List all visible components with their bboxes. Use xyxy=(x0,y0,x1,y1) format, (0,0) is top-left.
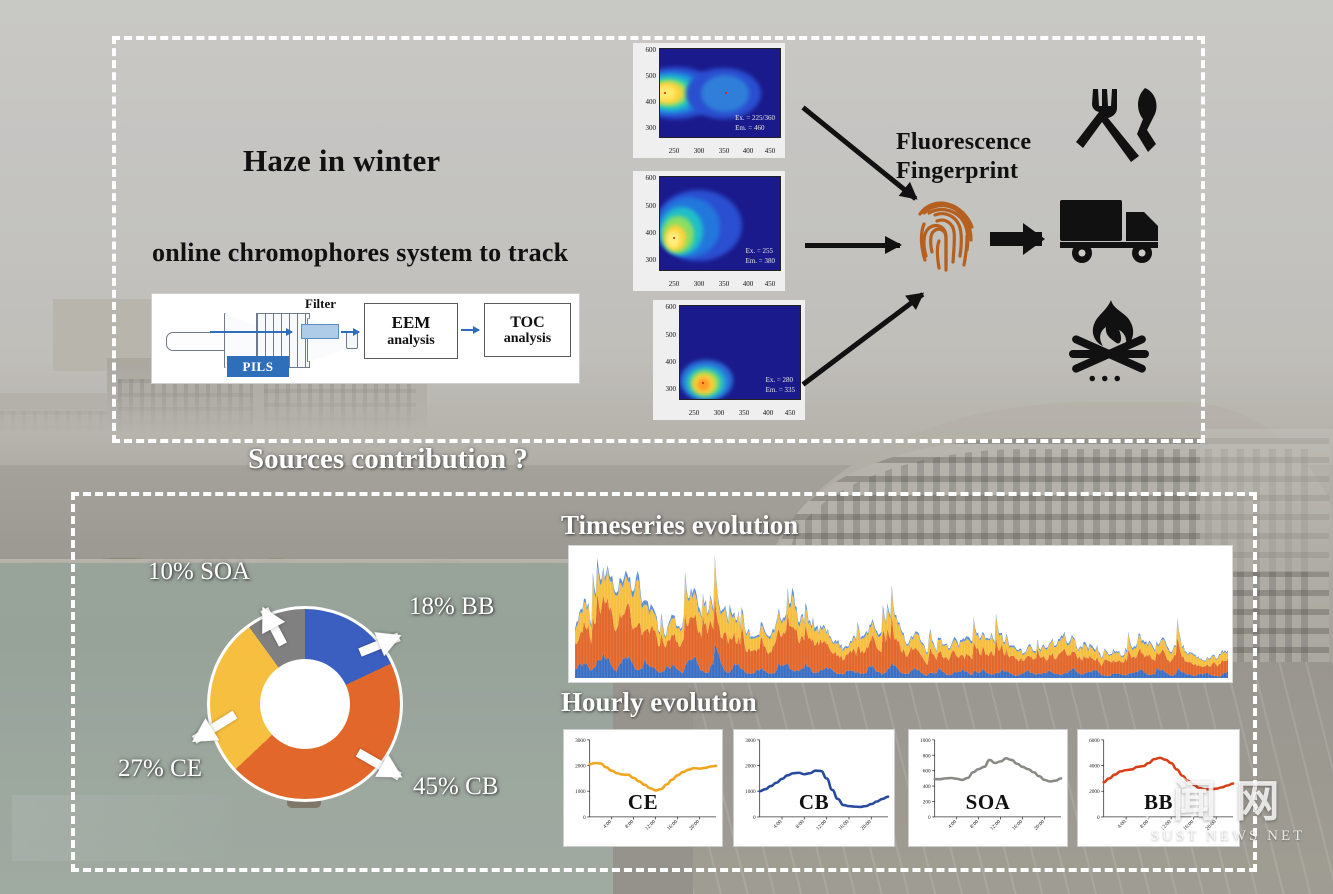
eem-plot-2-canvas: Ex. = 255 Em. = 380 xyxy=(659,176,781,271)
svg-text:4:00: 4:00 xyxy=(602,819,613,830)
eem1-xtick-400: 400 xyxy=(737,147,759,155)
eem3-ytick-400: 400 xyxy=(655,358,676,366)
fluorescence-line-2: Fingerprint xyxy=(896,157,1031,186)
online-system-title: online chromophores system to track xyxy=(152,238,568,268)
converging-arrow-middle xyxy=(805,243,900,248)
donut-label-soa: 10% SOA xyxy=(148,558,250,586)
svg-text:12:00: 12:00 xyxy=(644,819,657,832)
fingerprint-to-sources-arrow xyxy=(990,232,1042,246)
eem2-xtick-250: 250 xyxy=(663,280,685,288)
eem3-ytick-600: 600 xyxy=(655,303,676,311)
eem3-xtick-400: 400 xyxy=(757,409,779,417)
eem2-ytick-400: 400 xyxy=(635,229,656,237)
toc-box-line1: TOC xyxy=(510,314,544,332)
donut-label-bb: 18% BB xyxy=(409,593,494,621)
svg-text:20:00: 20:00 xyxy=(1205,819,1218,832)
donut-hole xyxy=(260,659,350,749)
eem2-ytick-600: 600 xyxy=(635,174,656,182)
hourly-panel-soa: 020040060080010004:008:0012:0016:0020:00… xyxy=(908,729,1068,847)
hourly-chart-ce: 01000200030004:008:0012:0016:0020:00 xyxy=(564,730,722,847)
eem3-xtick-450: 450 xyxy=(779,409,801,417)
svg-text:3000: 3000 xyxy=(745,738,756,744)
svg-text:20:00: 20:00 xyxy=(860,819,873,832)
svg-text:1000: 1000 xyxy=(920,738,931,744)
filter-icon xyxy=(301,324,339,339)
svg-text:0: 0 xyxy=(928,815,931,821)
eem1-xtick-300: 300 xyxy=(688,147,710,155)
eem1-xtick-250: 250 xyxy=(663,147,685,155)
eem2-xtick-400: 400 xyxy=(737,280,759,288)
eem-plot-2-note: Ex. = 255 Em. = 380 xyxy=(746,247,775,266)
hourly-evolution-title: Hourly evolution xyxy=(561,687,757,718)
hourly-panel-ce-title: CE xyxy=(564,790,722,815)
sources-contribution-donut xyxy=(207,606,403,802)
svg-text:3000: 3000 xyxy=(575,738,586,744)
svg-text:600: 600 xyxy=(923,769,931,775)
eem-plot-2-em: Em. = 380 xyxy=(746,257,775,266)
svg-text:4:00: 4:00 xyxy=(1117,819,1128,830)
hourly-panel-soa-title: SOA xyxy=(909,790,1067,815)
ellipsis: ... xyxy=(1088,352,1126,390)
eem2-xtick-300: 300 xyxy=(688,280,710,288)
svg-text:16:00: 16:00 xyxy=(666,819,679,832)
eem-plot-3-canvas: Ex. = 280 Em. = 335 xyxy=(679,305,801,400)
eem2-xtick-350: 350 xyxy=(713,280,735,288)
hourly-chart-cb: 01000200030004:008:0012:0016:0020:00 xyxy=(734,730,894,847)
hourly-chart-bb: 02000400060004:008:0012:0016:0020:00 xyxy=(1078,730,1239,847)
hourly-panel-cb-title: CB xyxy=(734,790,894,815)
eem-plot-1-canvas: Ex. = 225/360 Em. = 460 xyxy=(659,48,781,138)
eem-analysis-box: EEM analysis xyxy=(364,303,458,359)
svg-text:16:00: 16:00 xyxy=(838,819,851,832)
eem-plot-1-em: Em. = 460 xyxy=(735,124,775,133)
svg-text:8:00: 8:00 xyxy=(969,819,980,830)
eem-plot-3: Ex. = 280 Em. = 335 600 500 400 300 250 … xyxy=(653,300,805,420)
eem-plot-3-note: Ex. = 280 Em. = 335 xyxy=(766,376,795,395)
eem3-ytick-300: 300 xyxy=(655,385,676,393)
timeseries-evolution-title: Timeseries evolution xyxy=(561,510,798,541)
svg-text:0: 0 xyxy=(1097,815,1100,821)
hourly-panel-cb: 01000200030004:008:0012:0016:0020:00 CB xyxy=(733,729,895,847)
flow-arrow-3 xyxy=(461,329,479,331)
eem1-ytick-400: 400 xyxy=(635,98,656,106)
pils-inlet xyxy=(166,332,230,351)
svg-text:16:00: 16:00 xyxy=(1182,819,1195,832)
svg-text:800: 800 xyxy=(923,753,931,759)
toc-box-line2: analysis xyxy=(504,331,551,346)
eem1-ytick-500: 500 xyxy=(635,72,656,80)
sources-contribution-title: Sources contribution ? xyxy=(248,443,528,476)
eem1-xtick-350: 350 xyxy=(713,147,735,155)
fluorescence-line-1: Fluorescence xyxy=(896,128,1031,157)
eem-plot-1-note: Ex. = 225/360 Em. = 460 xyxy=(735,114,775,133)
graphical-abstract: Haze in winter online chromophores syste… xyxy=(0,0,1333,894)
donut-label-cb: 45% CB xyxy=(413,773,498,801)
svg-text:12:00: 12:00 xyxy=(989,819,1002,832)
eem3-xtick-300: 300 xyxy=(708,409,730,417)
svg-text:2000: 2000 xyxy=(575,764,586,770)
hourly-panel-bb-title: BB xyxy=(1078,790,1239,815)
hourly-chart-soa: 020040060080010004:008:0012:0016:0020:00 xyxy=(909,730,1067,847)
svg-text:0: 0 xyxy=(753,815,756,821)
svg-text:8:00: 8:00 xyxy=(624,819,635,830)
eem-box-line2: analysis xyxy=(387,333,434,348)
eem2-ytick-300: 300 xyxy=(635,256,656,264)
svg-text:6000: 6000 xyxy=(1089,738,1100,744)
eem1-xtick-450: 450 xyxy=(759,147,781,155)
haze-title: Haze in winter xyxy=(243,143,440,179)
eem3-xtick-250: 250 xyxy=(683,409,705,417)
eem-plot-3-em: Em. = 335 xyxy=(766,386,795,395)
filter-label: Filter xyxy=(305,296,336,312)
flow-arrow-1 xyxy=(210,331,292,333)
flow-arrow-2 xyxy=(341,331,359,333)
svg-text:4:00: 4:00 xyxy=(772,819,783,830)
cutlery-icon xyxy=(1073,86,1163,164)
fluorescence-fingerprint-title: Fluorescence Fingerprint xyxy=(896,128,1031,187)
svg-text:0: 0 xyxy=(583,815,586,821)
eem-box-line1: EEM xyxy=(392,314,431,333)
eem2-xtick-450: 450 xyxy=(759,280,781,288)
hourly-panel-ce: 01000200030004:008:0012:0016:0020:00 CE xyxy=(563,729,723,847)
truck-icon xyxy=(1058,192,1166,264)
eem-plot-1: Ex. = 225/360 Em. = 460 600 500 400 300 … xyxy=(633,43,785,158)
eem1-ytick-600: 600 xyxy=(635,46,656,54)
svg-text:8:00: 8:00 xyxy=(795,819,806,830)
eem3-ytick-500: 500 xyxy=(655,331,676,339)
svg-text:20:00: 20:00 xyxy=(1033,819,1046,832)
eem-plot-2: Ex. = 255 Em. = 380 600 500 400 300 250 … xyxy=(633,171,785,291)
eem3-xtick-350: 350 xyxy=(733,409,755,417)
pils-label: PILS xyxy=(227,356,289,377)
eem2-ytick-500: 500 xyxy=(635,202,656,210)
svg-text:12:00: 12:00 xyxy=(815,819,828,832)
svg-text:20:00: 20:00 xyxy=(688,819,701,832)
svg-text:16:00: 16:00 xyxy=(1011,819,1024,832)
svg-text:4:00: 4:00 xyxy=(947,819,958,830)
timeseries-chart-panel xyxy=(568,545,1233,683)
hourly-panel-bb: 02000400060004:008:0012:0016:0020:00 BB xyxy=(1077,729,1240,847)
timeseries-chart xyxy=(575,549,1228,678)
svg-text:8:00: 8:00 xyxy=(1139,819,1150,830)
fingerprint-icon xyxy=(915,196,977,274)
eem-plot-1-ex: Ex. = 225/360 xyxy=(735,114,775,123)
svg-text:2000: 2000 xyxy=(745,764,756,770)
svg-text:4000: 4000 xyxy=(1089,764,1100,770)
eem1-ytick-300: 300 xyxy=(635,124,656,132)
eem-plot-2-ex: Ex. = 255 xyxy=(746,247,775,256)
svg-text:12:00: 12:00 xyxy=(1160,819,1173,832)
eem-plot-3-ex: Ex. = 280 xyxy=(766,376,795,385)
toc-analysis-box: TOC analysis xyxy=(484,303,571,357)
donut-label-ce: 27% CE xyxy=(118,755,202,783)
